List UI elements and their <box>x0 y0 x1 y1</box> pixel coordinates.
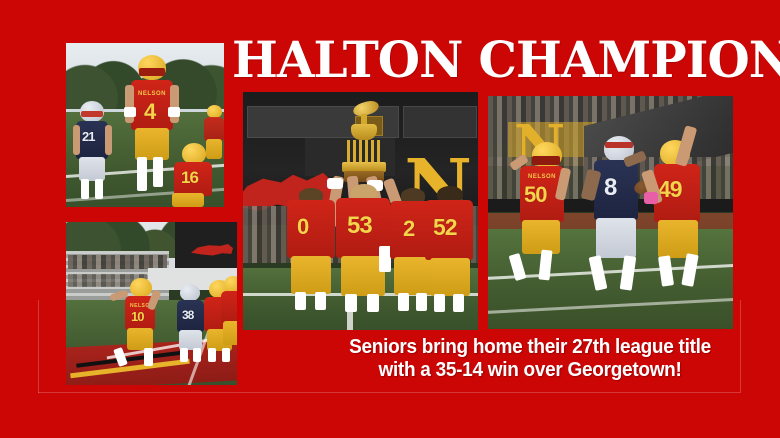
nelson-blocker <box>221 276 237 356</box>
nelson-quarterback-10: NELSON 10 <box>118 278 164 366</box>
press-box-window <box>403 106 477 138</box>
trophy-columns <box>347 140 381 164</box>
caption-text: Seniors bring home their 27th league tit… <box>320 336 740 382</box>
championship-trophy <box>341 102 389 188</box>
nelson-player-0: 0 <box>285 188 337 312</box>
trophy-celebration-photo: N 0 <box>243 92 478 330</box>
championship-poster: HALTON CHAMPIONS !!! 21 NELSON 4 <box>0 0 780 438</box>
opponent-quarterback-8: 8 <box>580 136 654 298</box>
nelson-player-52: 52 <box>425 186 475 314</box>
player-standing-photo: 21 NELSON 4 16 <box>66 43 224 207</box>
background-player <box>202 105 224 169</box>
headline-title: HALTON CHAMPIONS !!! <box>232 34 727 86</box>
frame-bottom-line <box>38 392 740 393</box>
frame-left-line <box>38 300 39 393</box>
caption-line-1: Seniors bring home their 27th league tit… <box>331 336 730 359</box>
frame-right-line <box>740 300 741 393</box>
nelson-player-49: 49 <box>646 126 714 288</box>
trophy-cup <box>351 124 377 140</box>
quarterback-throwing-photo: NELSON 10 38 <box>66 222 237 385</box>
nelson-player-50: NELSON 50 <box>510 138 572 286</box>
glove <box>644 192 658 204</box>
nelson-player-53: 53 <box>335 184 391 314</box>
opponent-player-21: 21 <box>72 101 112 201</box>
defensive-pressure-photo: N NELSON 50 8 <box>488 96 733 329</box>
caption-line-2: with a 35-14 win over Georgetown! <box>331 359 730 382</box>
